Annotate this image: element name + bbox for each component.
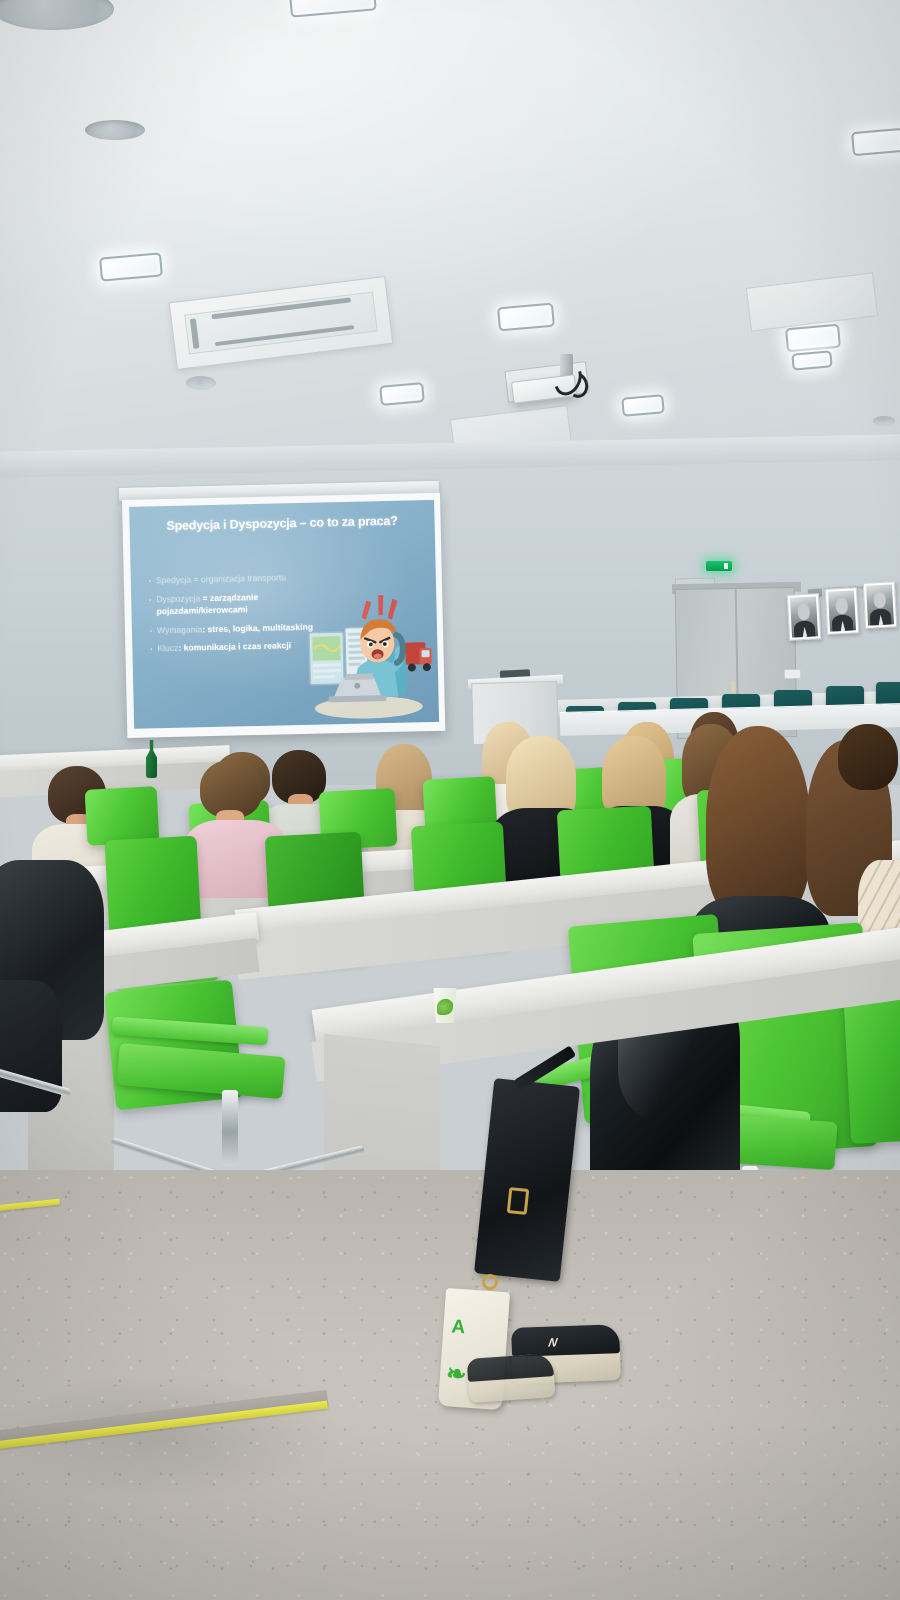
bullet-text: : stres, logika, multitasking bbox=[202, 621, 313, 634]
ceiling-light-icon bbox=[621, 394, 664, 417]
slide-title: Spedycja i Dyspozycja – co to za praca? bbox=[141, 512, 422, 534]
bullet-lead: Wymagania bbox=[157, 624, 203, 635]
wall-portrait bbox=[825, 587, 859, 635]
exit-sign-icon bbox=[706, 561, 732, 571]
bullet-text: = organizacja transportu bbox=[191, 572, 286, 584]
tote-logo: A bbox=[451, 1316, 466, 1339]
ceiling-light-icon bbox=[379, 382, 425, 406]
lecture-hall-photo: Spedycja i Dyspozycja – co to za praca? … bbox=[0, 0, 900, 1600]
bullet-lead: Klucz bbox=[157, 643, 178, 653]
sneaker bbox=[467, 1353, 556, 1403]
student bbox=[838, 724, 900, 844]
recessed-downlight-icon bbox=[873, 416, 895, 426]
presentation-slide: Spedycja i Dyspozycja – co to za praca? … bbox=[129, 500, 439, 729]
ceiling-light-icon bbox=[497, 303, 555, 332]
recessed-downlight-icon bbox=[186, 376, 216, 390]
wall-portrait bbox=[863, 581, 897, 629]
slide-bullet-list: Spedycja = organizacja transportu Dyspoz… bbox=[147, 571, 319, 662]
light-switch-icon[interactable] bbox=[784, 669, 801, 679]
slide-bullet-item: Dyspozycja = zarządzanie pojazdami/kiero… bbox=[147, 589, 318, 617]
ceiling-light-icon bbox=[851, 128, 900, 156]
ceiling-light-icon bbox=[791, 350, 832, 370]
projection-screen[interactable]: Spedycja i Dyspozycja – co to za praca? … bbox=[122, 493, 445, 738]
tote-logo-leaf: ❧ bbox=[446, 1364, 467, 1385]
handbag-buckle-icon bbox=[507, 1187, 530, 1215]
slide-bullet-item: Wymagania: stres, logika, multitasking bbox=[148, 620, 318, 636]
slide-bullet-item: Spedycja = organizacja transportu bbox=[147, 571, 317, 587]
slide-bullet-item: Klucz: komunikacja i czas reakcji bbox=[148, 639, 318, 655]
hair bbox=[706, 726, 810, 922]
bullet-lead: Spedycja bbox=[156, 574, 192, 585]
chair-back[interactable] bbox=[85, 786, 160, 846]
wall-portrait bbox=[787, 593, 821, 641]
ceiling-speaker-icon bbox=[85, 120, 145, 140]
paper-cup[interactable] bbox=[432, 988, 458, 1023]
ceiling-light-icon bbox=[785, 324, 841, 353]
chair-post bbox=[222, 1090, 238, 1166]
handbag-clasp-icon bbox=[482, 1274, 498, 1290]
hair bbox=[838, 724, 898, 790]
sneaker-brand-mark: N bbox=[547, 1335, 558, 1349]
bullet-lead: Dyspozycja bbox=[156, 593, 200, 604]
slide-illustration-icon bbox=[300, 590, 435, 721]
bullet-text: : komunikacja i czas reakcji bbox=[178, 641, 291, 654]
